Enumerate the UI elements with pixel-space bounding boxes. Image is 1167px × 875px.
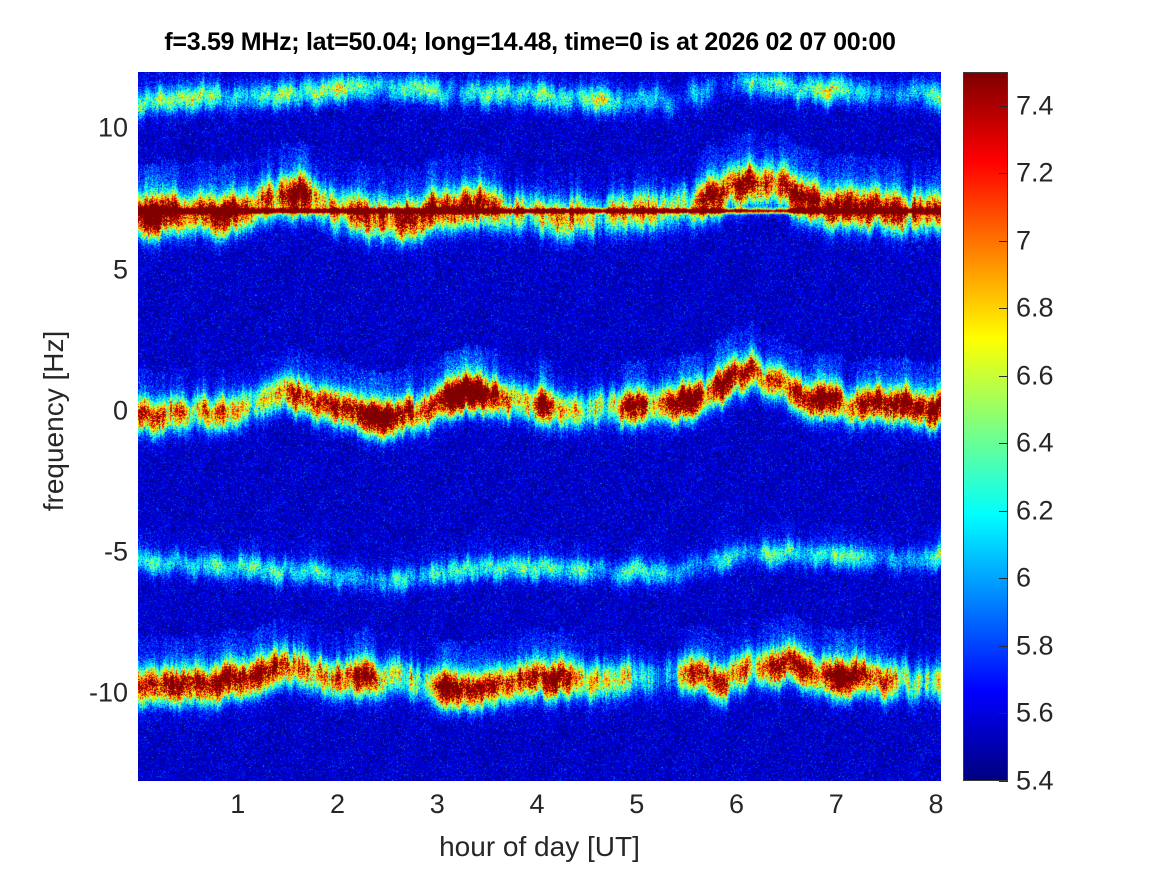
- x-tick-label: 3: [407, 789, 467, 820]
- colorbar-tick-label: 7.2: [1016, 158, 1096, 189]
- figure-root: f=3.59 MHz; lat=50.04; long=14.48, time=…: [0, 0, 1167, 875]
- x-tick-label: 8: [906, 789, 966, 820]
- x-axis-label: hour of day [UT]: [138, 831, 941, 863]
- colorbar-tick-label: 5.8: [1016, 630, 1096, 661]
- colorbar-tick-mark: [999, 511, 1008, 512]
- colorbar-tick-label: 6.4: [1016, 428, 1096, 459]
- y-axis-ticks: 1050-5-10: [66, 72, 128, 781]
- y-tick-label: -5: [68, 537, 128, 568]
- colorbar-tick-mark: [999, 713, 1008, 714]
- colorbar-gradient: [963, 72, 1008, 781]
- colorbar-tick-label: 6: [1016, 563, 1096, 594]
- x-tick-label: 4: [507, 789, 567, 820]
- x-tick-label: 1: [208, 789, 268, 820]
- colorbar-tick-mark: [999, 308, 1008, 309]
- colorbar-tick-mark: [999, 376, 1008, 377]
- y-tick-label: -10: [68, 678, 128, 709]
- y-tick-label: 5: [68, 254, 128, 285]
- colorbar-tick-label: 6.8: [1016, 293, 1096, 324]
- colorbar-tick-label: 6.2: [1016, 495, 1096, 526]
- colorbar-tick-mark: [999, 578, 1008, 579]
- x-tick-label: 7: [806, 789, 866, 820]
- colorbar-tick-mark: [999, 173, 1008, 174]
- x-tick-label: 6: [707, 789, 767, 820]
- spectrogram-plot[interactable]: [138, 72, 941, 781]
- colorbar-tick-mark: [999, 241, 1008, 242]
- colorbar-tick-label: 7.4: [1016, 90, 1096, 121]
- x-tick-label: 2: [308, 789, 368, 820]
- spectrogram-heatmap: [138, 72, 941, 781]
- x-tick-label: 5: [607, 789, 667, 820]
- y-axis-label: frequency [Hz]: [38, 101, 70, 741]
- colorbar-tick-mark: [999, 106, 1008, 107]
- colorbar-tick-mark: [999, 646, 1008, 647]
- colorbar-tick-mark: [999, 781, 1008, 782]
- colorbar-tick-label: 6.6: [1016, 360, 1096, 391]
- y-tick-label: 0: [68, 395, 128, 426]
- y-tick-label: 10: [68, 113, 128, 144]
- plot-title: f=3.59 MHz; lat=50.04; long=14.48, time=…: [0, 28, 1060, 57]
- colorbar-tick-label: 7: [1016, 225, 1096, 256]
- y-axis-label-wrap: frequency [Hz]: [24, 72, 68, 781]
- colorbar[interactable]: [963, 72, 1008, 781]
- colorbar-tick-label: 5.6: [1016, 698, 1096, 729]
- colorbar-tick-mark: [999, 443, 1008, 444]
- x-axis-ticks: 12345678: [0, 789, 1060, 829]
